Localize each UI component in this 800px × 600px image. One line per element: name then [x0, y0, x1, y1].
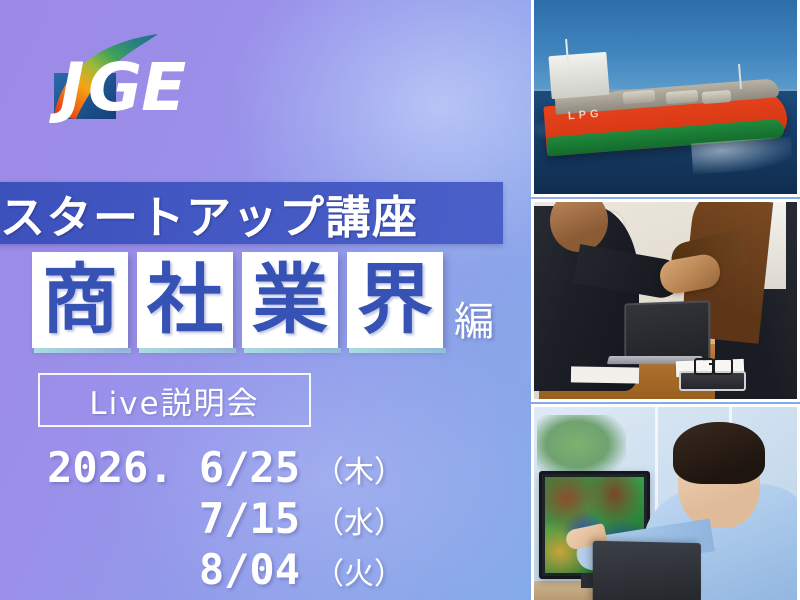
headline-char-box-2: 社 — [137, 252, 233, 348]
series-band: スタートアップ講座 — [0, 182, 503, 244]
headline-char-box-3: 業 — [242, 252, 338, 348]
headline-suffix: 編 — [454, 302, 494, 342]
headline-char-3: 業 — [252, 262, 328, 338]
notebook — [571, 367, 640, 384]
eyeglasses-right-lens — [713, 358, 733, 375]
ship-bridge — [548, 52, 609, 99]
headline-char-1: 商 — [42, 262, 118, 338]
date-list: 2026. 6/25 （木） 7/15 （水） 8/04 （火） — [0, 443, 400, 596]
date-weekday: （火） — [314, 549, 392, 593]
date-weekday: （木） — [314, 447, 392, 491]
series-band-label: スタートアップ講座 — [0, 181, 419, 246]
ship-hull-label: LPG — [568, 107, 603, 122]
headline-char-2: 社 — [147, 262, 223, 338]
photo-column: LPG — [531, 0, 800, 600]
eyeglasses-left-lens — [694, 358, 714, 375]
headline: 商 社 業 界 編 — [32, 252, 494, 348]
date-row: 8/04 （火） — [0, 545, 400, 596]
laptop — [593, 541, 702, 600]
ship-bow-wake — [691, 136, 793, 174]
headline-char-box-1: 商 — [32, 252, 128, 348]
logo-wordmark: J GE — [49, 49, 186, 126]
date-value: 8/04 — [199, 545, 300, 594]
laptop-screen — [624, 301, 710, 364]
live-badge-label: Live説明会 — [89, 378, 259, 423]
date-row: 7/15 （水） — [0, 494, 400, 545]
headline-char-4: 界 — [357, 262, 433, 338]
photo-analyst-monitor — [531, 404, 800, 600]
photo-business-handshake — [531, 199, 800, 402]
svg-text:GE: GE — [88, 49, 186, 126]
date-value: 7/15 — [199, 494, 300, 543]
date-row: 2026. 6/25 （木） — [0, 443, 400, 494]
photo-lpg-tanker: LPG — [531, 0, 800, 197]
date-weekday: （水） — [314, 498, 392, 542]
live-badge: Live説明会 — [38, 373, 311, 427]
person-hair — [673, 422, 765, 484]
seminar-poster: J GE スタートアップ講座 商 社 業 界 編 Live説明会 2026. 6… — [0, 0, 800, 600]
date-value: 2026. 6/25 — [47, 443, 300, 492]
headline-char-box-4: 界 — [347, 252, 443, 348]
jge-logo: J GE — [38, 18, 258, 133]
